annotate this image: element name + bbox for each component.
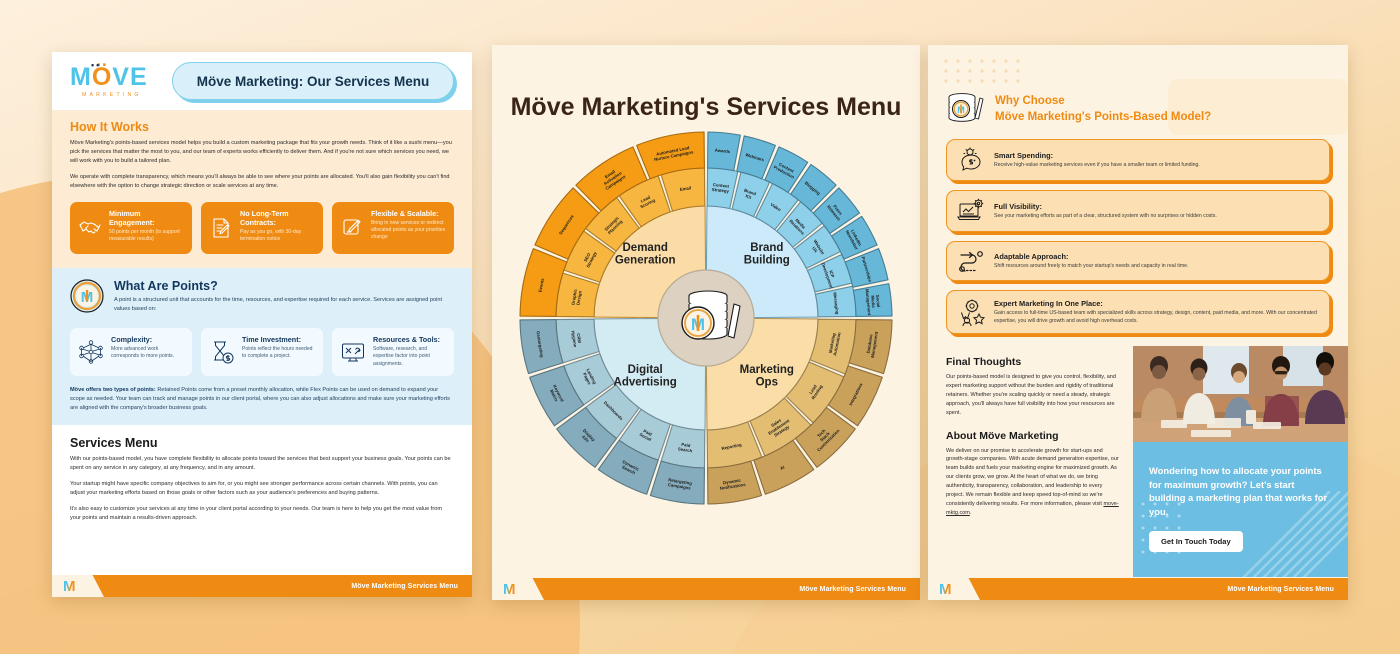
svg-text:Digital: Digital [628,364,663,376]
points-card-desc: Points reflect the hours needed to compl… [242,346,315,360]
feature-title: Minimum Engagement: [109,209,184,227]
svg-text:Building: Building [744,255,790,267]
points-card-complexity: Complexity: More advanced work correspon… [70,328,192,376]
services-wheel-svg: DemandGenerationGraphicDesignSEOStrategy… [516,128,896,508]
move-m-mark: M [503,582,515,597]
benefit-title: Smart Spending: [994,151,1200,160]
move-tagline: MARKETING [82,92,158,98]
points-card-desc: More advanced work corresponds to more p… [111,346,184,360]
feature-desc: Pay as you go, with 30-day termination n… [240,229,315,243]
move-m-mark: M [939,582,951,597]
tools-monitor-icon [340,335,366,369]
what-are-points-section: M What Are Points? A point is a structur… [52,268,472,425]
panel3-lower-section: Final Thoughts Our points-based model is… [928,346,1348,577]
cta-card: Wondering how to allocate your points fo… [1133,346,1348,577]
benefit-title: Adaptable Approach: [994,252,1188,261]
benefit-title: Full Visibility: [994,202,1217,211]
footer-logo-tab: M [492,578,544,600]
feature-card-minimum-engagement: Minimum Engagement: 50 points per month … [70,202,192,254]
points-card-resources-tools: Resources & Tools: Software, research, a… [332,328,454,376]
wheel-segment-label: ContentStrategy [712,182,731,194]
how-it-works-section: How It Works Möve Marketing's points-bas… [52,110,472,268]
move-coin-badge-icon: M [70,279,104,318]
benefit-list: Smart Spending: Receive high-value marke… [946,139,1330,334]
services-menu-section: Services Menu With our points-based mode… [52,425,472,531]
panel3-footer-text: Möve Marketing Services Menu [1227,586,1348,593]
benefit-desc: Shift resources around freely to match y… [994,263,1188,271]
why-choose-title-line1: Why Choose [995,94,1211,110]
svg-text:Marketing: Marketing [740,364,794,376]
benefit-adaptable-approach: Adaptable Approach: Shift resources arou… [946,241,1330,281]
how-it-works-paragraph-1: Möve Marketing's points-based services m… [70,139,454,166]
services-menu-paragraph-1: With our points-based model, you have co… [70,455,454,473]
footer-logo-tab: M [928,578,980,600]
hourglass-dollar-icon [209,335,235,369]
final-thoughts-body: Our points-based model is designed to gi… [946,373,1119,418]
move-m-mark: M [63,579,75,594]
benefit-desc: Gain access to full-time US-based team w… [994,310,1319,325]
wheel-quadrant-label: BrandBuilding [744,242,790,267]
panel1-footer: M Möve Marketing Services Menu [52,575,472,597]
about-body: We deliver on our promise to accelerate … [946,447,1119,518]
points-card-title: Time Investment: [242,335,315,344]
services-menu-heading: Services Menu [70,436,454,450]
what-are-points-intro: A point is a structured unit that accoun… [114,296,454,314]
network-nodes-icon [78,335,104,369]
services-menu-paragraph-2: Your startup might have specific company… [70,480,454,498]
feature-desc: 50 points per month (to support measurab… [109,229,184,243]
panel2-footer: M Möve Marketing Services Menu [492,578,920,600]
benefit-smart-spending: Smart Spending: Receive high-value marke… [946,139,1330,181]
benefit-desc: See your marketing efforts as part of a … [994,213,1217,221]
how-it-works-paragraph-2: We operate with complete transparency, w… [70,173,454,191]
contract-pen-icon [209,209,233,247]
final-thoughts-heading: Final Thoughts [946,356,1119,368]
about-heading: About Möve Marketing [946,430,1119,442]
feature-title: No Long-Term Contracts: [240,209,315,227]
benefit-expert-marketing: Expert Marketing In One Place: Gain acce… [946,290,1330,334]
points-factor-cards: Complexity: More advanced work correspon… [70,328,454,376]
final-thoughts-about-column: Final Thoughts Our points-based model is… [928,346,1133,577]
about-body-end: . [970,510,972,516]
panel-why-choose: M Why Choose Möve Marketing's Points-Bas… [928,45,1348,600]
cta-text: Wondering how to allocate your points fo… [1149,464,1332,519]
expert-badge-icon [957,298,985,326]
about-body-text: We deliver on our promise to accelerate … [946,448,1119,507]
team-collaboration-photo [1133,346,1348,442]
how-it-works-heading: How It Works [70,120,454,134]
wheel-title: Möve Marketing's Services Menu [492,93,920,122]
svg-text:Ops: Ops [756,376,778,388]
orange-feature-cards: Minimum Engagement: 50 points per month … [70,202,454,254]
infographic-stage: ••MÖVE MARKETING Möve Marketing: Our Ser… [0,0,1400,654]
why-choose-title: Why Choose Möve Marketing's Points-Based… [995,94,1211,125]
svg-text:Brand: Brand [750,242,783,254]
why-choose-title-line2: Möve Marketing's Points-Based Model? [995,110,1211,126]
points-card-desc: Software, research, and expertise factor… [373,346,446,368]
services-wheel: DemandGenerationGraphicDesignSEOStrategy… [516,128,896,508]
move-wordmark: ••MÖVE [70,65,158,90]
feature-desc: Bring in new services or redirect alloca… [371,220,446,241]
laptop-gear-chart-icon [957,198,985,224]
coin-stack-logo-icon: M [946,91,984,128]
panel-services-overview: ••MÖVE MARKETING Möve Marketing: Our Ser… [52,52,472,597]
piggy-bank-idea-icon [957,147,985,173]
panel-services-wheel: Möve Marketing's Services Menu DemandGen… [492,45,920,600]
panel1-title-pill: Möve Marketing: Our Services Menu [172,62,454,100]
benefit-desc: Receive high-value marketing services ev… [994,162,1200,170]
flow-arrow-icon [957,249,985,273]
wheel-quadrant-label: DemandGeneration [615,242,676,267]
points-types-note-bold: Möve offers two types of points: [70,387,156,393]
svg-text:Generation: Generation [615,255,676,267]
cta-panel: Wondering how to allocate your points fo… [1133,442,1348,577]
feature-card-flexible-scalable: Flexible & Scalable: Bring in new servic… [332,202,454,254]
handshake-icon [78,209,102,247]
benefit-full-visibility: Full Visibility: See your marketing effo… [946,190,1330,232]
feature-title: Flexible & Scalable: [371,209,446,218]
points-card-title: Resources & Tools: [373,335,446,344]
flex-scale-icon [340,209,364,247]
feature-card-no-long-term-contracts: No Long-Term Contracts: Pay as you go, w… [201,202,323,254]
benefit-title: Expert Marketing In One Place: [994,299,1319,308]
why-choose-section: M Why Choose Möve Marketing's Points-Bas… [928,45,1348,334]
get-in-touch-button[interactable]: Get In Touch Today [1149,531,1243,552]
move-logo: ••MÖVE MARKETING [70,65,158,98]
points-card-time-investment: Time Investment: Points reflect the hour… [201,328,323,376]
panel1-footer-text: Möve Marketing Services Menu [351,583,472,590]
svg-text:Advertising: Advertising [614,376,677,388]
panel3-footer: M Möve Marketing Services Menu [928,578,1348,600]
what-are-points-heading: What Are Points? [114,279,454,293]
umlaut-dots: •• [91,61,101,70]
what-are-points-header: M What Are Points? A point is a structur… [70,279,454,318]
points-card-title: Complexity: [111,335,184,344]
svg-text:Demand: Demand [623,242,668,254]
footer-logo-tab: M [52,575,104,597]
panel1-header: ••MÖVE MARKETING Möve Marketing: Our Ser… [52,52,472,110]
points-types-note: Möve offers two types of points: Retaine… [70,386,454,413]
panel2-footer-text: Möve Marketing Services Menu [799,586,920,593]
services-menu-paragraph-3: It's also easy to customize your service… [70,505,454,523]
why-choose-header: M Why Choose Möve Marketing's Points-Bas… [946,91,1330,128]
